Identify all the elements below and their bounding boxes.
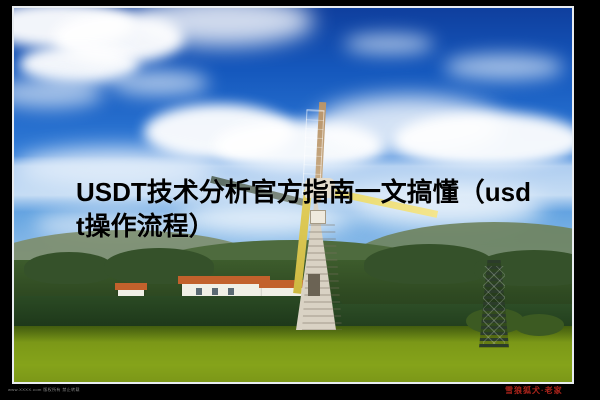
cloud-shape [344,34,434,54]
photo-image: USDT技术分析官方指南一文搞懂（usd t操作流程） [14,8,572,382]
overlay-title-line-2: t操作流程） [76,209,556,243]
farmhouse-window [228,288,234,295]
red-watermark: 雪狼狐犬·老家 [505,385,563,396]
lattice-tower [469,260,523,348]
treeline-bump [24,252,114,284]
credit-watermark: www.XXXX.com 版权所有 禁止转载 [8,387,80,393]
farmhouse-small-roof [115,283,147,290]
overlay-title: USDT技术分析官方指南一文搞懂（usd t操作流程） [76,175,556,244]
farmhouse-window [196,288,202,295]
screenshot-canvas: USDT技术分析官方指南一文搞懂（usd t操作流程） www.XXXX.com… [0,0,600,400]
windmill-door [308,274,320,296]
lattice-tower-bracing [483,266,505,344]
cloud-shape [109,70,209,96]
overlay-title-line-1: USDT技术分析官方指南一文搞懂（usd [76,175,556,209]
cloud-shape [444,54,564,80]
frame-line-right [572,6,574,384]
farmhouse-main-roof [178,276,270,284]
farmhouse-window [212,288,218,295]
